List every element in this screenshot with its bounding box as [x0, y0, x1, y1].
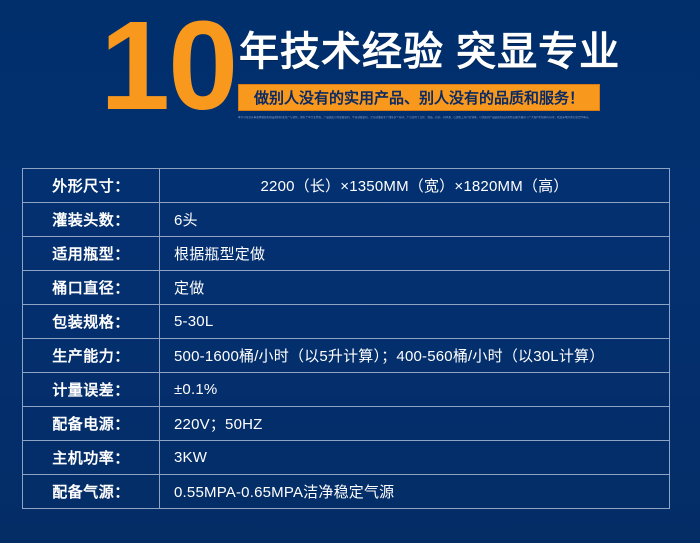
spec-label: 包装规格：	[23, 305, 160, 339]
banner-header: 10 年技术经验 突显专业 做别人没有的实用产品、别人没有的品质和服务！ 本公司…	[0, 0, 700, 150]
spec-value: 220V；50HZ	[160, 407, 670, 441]
fineprint-text: 本公司专业从事液体灌装机械设备的研发生产与销售，拥有十年行业经验，产品涵盖小剂量…	[238, 116, 610, 120]
table-row: 生产能力：500-1600桶/小时（以5升计算）；400-560桶/小时（以30…	[23, 339, 670, 373]
spec-value: 6头	[160, 203, 670, 237]
spec-value: 定做	[160, 271, 670, 305]
spec-label: 生产能力：	[23, 339, 160, 373]
spec-value: 5-30L	[160, 305, 670, 339]
spec-value: 2200（长）×1350MM（宽）×1820MM（高）	[160, 169, 670, 203]
table-row: 适用瓶型：根据瓶型定做	[23, 237, 670, 271]
spec-label: 配备电源：	[23, 407, 160, 441]
spec-value: 500-1600桶/小时（以5升计算）；400-560桶/小时（以30L计算）	[160, 339, 670, 373]
table-row: 计量误差：±0.1%	[23, 373, 670, 407]
spec-label: 计量误差：	[23, 373, 160, 407]
spec-value: ±0.1%	[160, 373, 670, 407]
spec-table-body: 外形尺寸：2200（长）×1350MM（宽）×1820MM（高）灌装头数：6头适…	[23, 169, 670, 509]
spec-label: 外形尺寸：	[23, 169, 160, 203]
spec-value: 3KW	[160, 441, 670, 475]
table-row: 外形尺寸：2200（长）×1350MM（宽）×1820MM（高）	[23, 169, 670, 203]
table-row: 主机功率：3KW	[23, 441, 670, 475]
table-row: 桶口直径：定做	[23, 271, 670, 305]
spec-label: 适用瓶型：	[23, 237, 160, 271]
headline-text: 年技术经验 突显专业	[239, 28, 620, 76]
spec-value: 0.55MPA-0.65MPA洁净稳定气源	[160, 475, 670, 509]
subtitle-text: 做别人没有的实用产品、别人没有的品质和服务！	[254, 87, 584, 108]
spec-value: 根据瓶型定做	[160, 237, 670, 271]
table-row: 配备电源：220V；50HZ	[23, 407, 670, 441]
table-row: 包装规格：5-30L	[23, 305, 670, 339]
subtitle-bar: 做别人没有的实用产品、别人没有的品质和服务！	[238, 84, 600, 111]
years-number: 10	[100, 3, 236, 129]
spec-label: 灌装头数：	[23, 203, 160, 237]
table-row: 配备气源：0.55MPA-0.65MPA洁净稳定气源	[23, 475, 670, 509]
spec-label: 主机功率：	[23, 441, 160, 475]
product-spec-banner: 10 年技术经验 突显专业 做别人没有的实用产品、别人没有的品质和服务！ 本公司…	[0, 0, 700, 543]
table-row: 灌装头数：6头	[23, 203, 670, 237]
spec-table: 外形尺寸：2200（长）×1350MM（宽）×1820MM（高）灌装头数：6头适…	[22, 168, 670, 509]
spec-label: 配备气源：	[23, 475, 160, 509]
spec-label: 桶口直径：	[23, 271, 160, 305]
